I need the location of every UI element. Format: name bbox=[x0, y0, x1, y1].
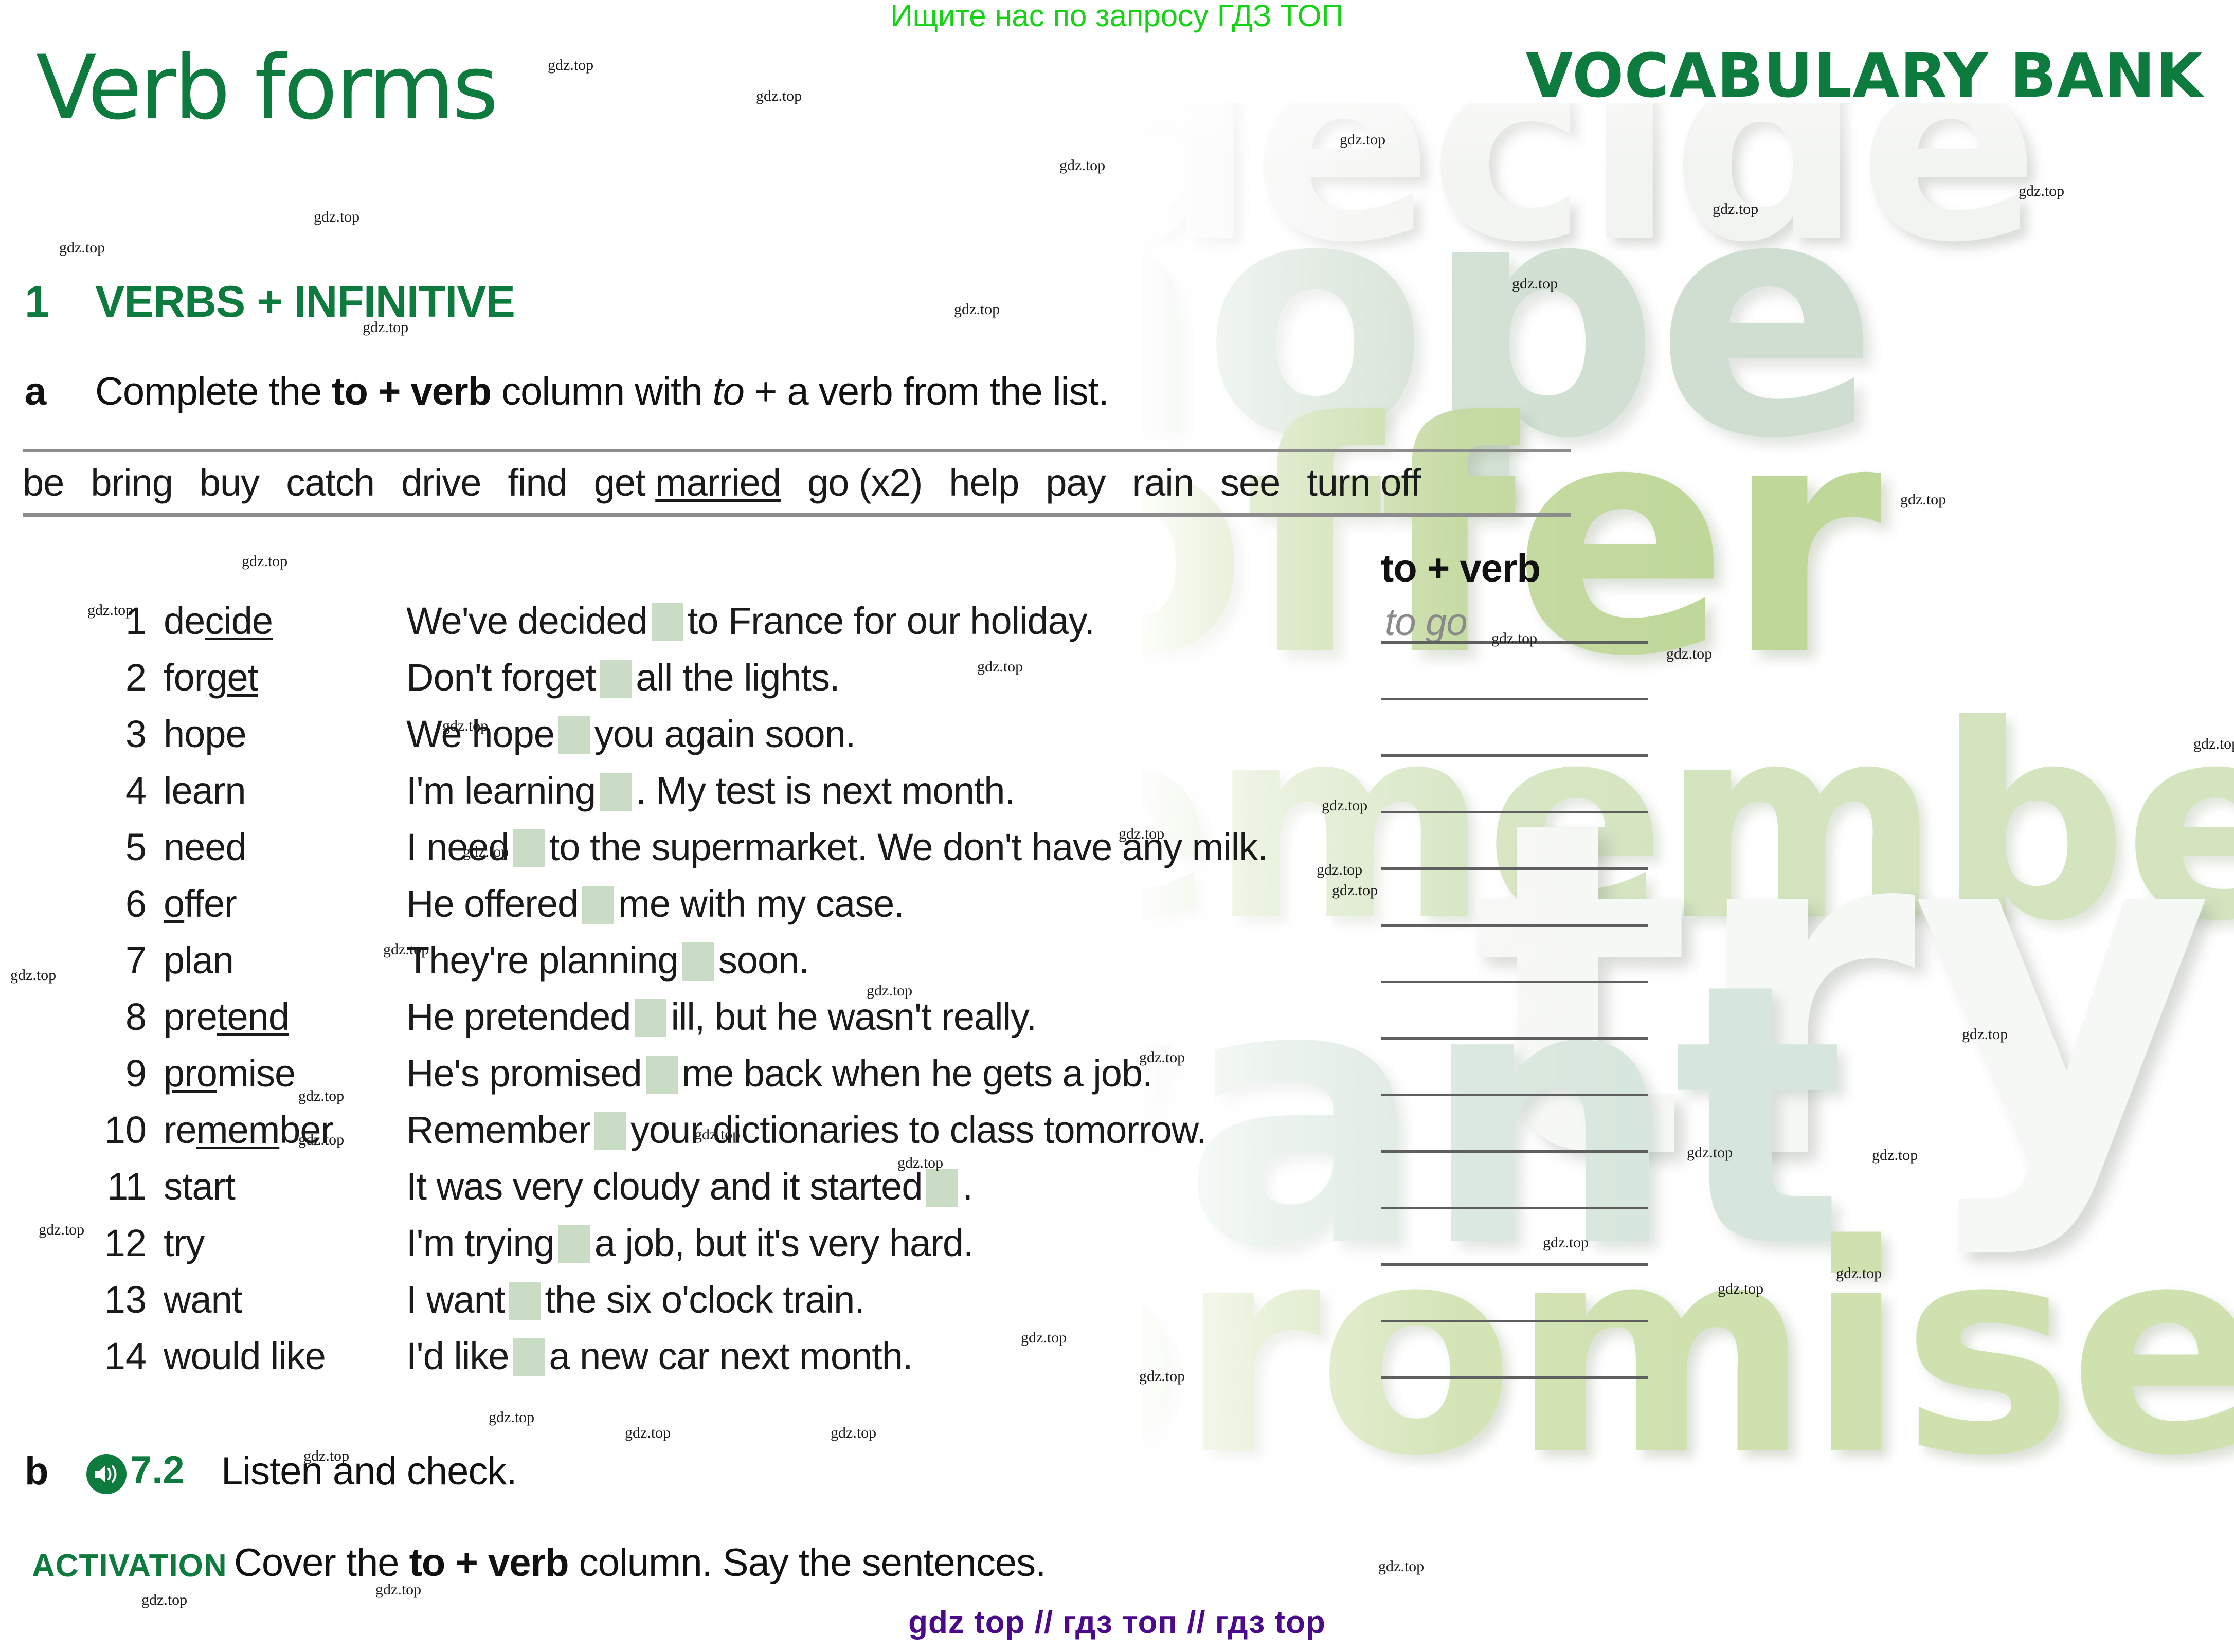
answer-writing-line bbox=[1381, 1207, 1648, 1209]
row-sentence: I'm tryinga job, but it's very hard. bbox=[406, 1221, 974, 1265]
watermark: gdz.top bbox=[1543, 1234, 1589, 1251]
verb-stress-underline: mem bbox=[196, 1109, 279, 1151]
audio-track-number: 7.2 bbox=[130, 1448, 185, 1493]
watermark: gdz.top bbox=[87, 602, 133, 619]
exercise-row: 1decideWe've decidedto France for our ho… bbox=[0, 599, 2234, 656]
answer-row[interactable] bbox=[1381, 1278, 1648, 1334]
activation-instruction: Cover the to + verb column. Say the sent… bbox=[234, 1540, 1046, 1585]
answers-column-header: to + verb bbox=[1381, 546, 1540, 591]
watermark: gdz.top bbox=[1687, 1144, 1733, 1161]
row-number: 11 bbox=[90, 1165, 147, 1208]
watermark: gdz.top bbox=[1322, 797, 1367, 814]
watermark: gdz.top bbox=[1317, 861, 1362, 879]
watermark: gdz.top bbox=[831, 1424, 876, 1442]
wordbank-word: get married bbox=[594, 461, 781, 504]
row-verb: plan bbox=[164, 938, 233, 982]
wordbank-word: catch bbox=[286, 461, 374, 504]
row-number: 10 bbox=[90, 1108, 147, 1152]
task-a-italic-to: to bbox=[713, 370, 744, 413]
watermark: gdz.top bbox=[548, 57, 593, 74]
wordbank-word-underlined: married bbox=[655, 461, 781, 504]
watermark: gdz.top bbox=[314, 208, 359, 226]
watermark: gdz.top bbox=[2193, 735, 2234, 753]
answer-gap[interactable] bbox=[558, 716, 590, 754]
watermark: gdz.top bbox=[867, 982, 912, 1000]
task-a-letter: a bbox=[25, 369, 46, 414]
wordbank-word: bring bbox=[91, 461, 173, 504]
exercise-row: 5needI needto the supermarket. We don't … bbox=[0, 825, 2234, 882]
row-verb: forget bbox=[164, 656, 258, 699]
exercise-row: 13wantI wantthe six o'clock train. bbox=[0, 1278, 2234, 1334]
watermark: gdz.top bbox=[1139, 1368, 1185, 1385]
answer-row[interactable] bbox=[1381, 656, 1648, 712]
answer-row[interactable] bbox=[1381, 882, 1648, 938]
answer-text: to go bbox=[1385, 600, 1467, 644]
promo-banner: Ищите нас по запросу ГДЗ ТОП bbox=[0, 0, 2234, 33]
row-verb: start bbox=[164, 1165, 235, 1208]
verb-stress-underline: o bbox=[164, 882, 184, 925]
watermark: gdz.top bbox=[694, 1126, 740, 1143]
row-number: 5 bbox=[90, 825, 147, 869]
answers-column: to go bbox=[1381, 599, 1648, 1391]
row-number: 14 bbox=[90, 1334, 147, 1378]
section-number: 1 bbox=[25, 277, 49, 328]
watermark: gdz.top bbox=[1491, 630, 1537, 647]
watermark: gdz.top bbox=[1059, 157, 1105, 174]
verb-stress-underline: get bbox=[206, 656, 258, 699]
answer-gap[interactable] bbox=[652, 603, 683, 641]
answer-gap[interactable] bbox=[509, 1282, 541, 1320]
answer-gap[interactable] bbox=[513, 829, 545, 867]
exercise-row: 14would likeI'd likea new car next month… bbox=[0, 1334, 2234, 1391]
answer-row[interactable] bbox=[1381, 1221, 1648, 1278]
answer-writing-line bbox=[1381, 867, 1648, 870]
answer-gap[interactable] bbox=[582, 886, 614, 924]
answer-gap[interactable] bbox=[635, 999, 666, 1037]
exercise-row: 6offerHe offeredme with my case. bbox=[0, 882, 2234, 938]
row-number: 9 bbox=[90, 1051, 147, 1095]
answer-gap[interactable] bbox=[594, 1112, 626, 1150]
row-sentence: It was very cloudy and it started. bbox=[406, 1165, 972, 1208]
answer-row[interactable] bbox=[1381, 995, 1648, 1051]
answer-writing-line bbox=[1381, 1094, 1648, 1096]
watermark: gdz.top bbox=[1021, 1329, 1067, 1347]
watermark: gdz.top bbox=[298, 1131, 344, 1149]
row-verb: want bbox=[164, 1278, 242, 1321]
wordbank-word: go (x2) bbox=[807, 461, 922, 504]
row-sentence: I'm learning. My test is next month. bbox=[406, 769, 1015, 812]
answer-writing-line bbox=[1381, 754, 1648, 757]
activation-part1: Cover the bbox=[234, 1541, 409, 1585]
row-sentence: I'd likea new car next month. bbox=[406, 1334, 913, 1378]
answer-writing-line bbox=[1381, 1150, 1648, 1153]
row-sentence: He pretendedill, but he wasn't really. bbox=[406, 995, 1036, 1039]
watermark: gdz.top bbox=[1139, 1049, 1185, 1066]
row-number: 4 bbox=[90, 769, 147, 812]
section-title: VERBS + INFINITIVE bbox=[95, 277, 515, 328]
answer-gap[interactable] bbox=[646, 1056, 678, 1094]
wordbank-box: bebringbuycatchdrivefindget marriedgo (x… bbox=[23, 449, 1571, 517]
exercise-row: 8pretendHe pretendedill, but he wasn't r… bbox=[0, 995, 2234, 1051]
watermark: gdz.top bbox=[1666, 645, 1712, 663]
row-sentence: He's promisedme back when he gets a job. bbox=[406, 1051, 1152, 1095]
row-verb: need bbox=[164, 825, 246, 869]
wordbank-word: turn off bbox=[1307, 461, 1420, 504]
answer-writing-line bbox=[1381, 924, 1648, 927]
row-number: 6 bbox=[90, 882, 147, 925]
exercise-row: 7planThey're planningsoon. bbox=[0, 938, 2234, 995]
answer-row[interactable] bbox=[1381, 769, 1648, 825]
task-b-letter: b bbox=[25, 1449, 48, 1494]
wordbank-word: help bbox=[949, 461, 1019, 504]
watermark: gdz.top bbox=[59, 239, 105, 257]
answer-writing-line bbox=[1381, 1320, 1648, 1322]
exercise-table: 1decideWe've decidedto France for our ho… bbox=[0, 599, 2234, 1391]
promo-footer: gdz top // гдз топ // гдз top bbox=[0, 1604, 2234, 1641]
row-number: 2 bbox=[90, 656, 147, 699]
wordbank-word: drive bbox=[401, 461, 481, 504]
watermark: gdz.top bbox=[1962, 1026, 2008, 1043]
row-verb: learn bbox=[164, 769, 246, 812]
row-sentence: He offeredme with my case. bbox=[406, 882, 904, 925]
row-number: 8 bbox=[90, 995, 147, 1039]
exercise-row: 4learnI'm learning. My test is next mont… bbox=[0, 769, 2234, 825]
wordbank-word: rain bbox=[1132, 461, 1194, 504]
watermark: gdz.top bbox=[1872, 1147, 1918, 1164]
row-number: 13 bbox=[90, 1278, 147, 1321]
answer-row[interactable] bbox=[1381, 1051, 1648, 1108]
watermark: gdz.top bbox=[977, 658, 1023, 676]
speaker-icon[interactable] bbox=[86, 1454, 127, 1494]
speaker-glyph bbox=[94, 1464, 119, 1484]
watermark: gdz.top bbox=[897, 1154, 943, 1172]
answer-gap[interactable] bbox=[600, 660, 632, 698]
task-a-part2: column with bbox=[491, 370, 713, 413]
vocabulary-bank-title: VOCABULARY BANK bbox=[1526, 40, 2203, 111]
watermark: gdz.top bbox=[375, 1581, 421, 1599]
row-verb: promise bbox=[164, 1051, 295, 1095]
watermark: gdz.top bbox=[954, 301, 1000, 318]
row-sentence: Rememberyour dictionaries to class tomor… bbox=[406, 1108, 1206, 1152]
answer-gap[interactable] bbox=[513, 1338, 545, 1376]
watermark: gdz.top bbox=[756, 87, 802, 105]
watermark: gdz.top bbox=[1900, 491, 1946, 509]
watermark: gdz.top bbox=[242, 553, 287, 570]
task-b-instruction: Listen and check. bbox=[221, 1449, 517, 1494]
activation-part2: column. Say the sentences. bbox=[569, 1541, 1046, 1585]
exercise-row: 3hopeWe hopeyou again soon. bbox=[0, 712, 2234, 769]
row-verb: try bbox=[164, 1221, 204, 1265]
wordbank-list: bebringbuycatchdrivefindget marriedgo (x… bbox=[23, 461, 1571, 504]
activation-label: ACTIVATION bbox=[32, 1548, 227, 1584]
row-number: 12 bbox=[90, 1221, 147, 1265]
answer-gap[interactable] bbox=[926, 1169, 958, 1207]
verb-stress-underline: tend bbox=[217, 995, 289, 1038]
exercise-row: 11startIt was very cloudy and it started… bbox=[0, 1165, 2234, 1221]
watermark: gdz.top bbox=[303, 1447, 349, 1465]
answer-writing-line bbox=[1381, 981, 1648, 983]
activation-bold-toverb: to + verb bbox=[409, 1541, 569, 1585]
watermark: gdz.top bbox=[463, 843, 509, 861]
watermark: gdz.top bbox=[625, 1424, 671, 1442]
answer-row[interactable] bbox=[1381, 1334, 1648, 1391]
answer-row[interactable] bbox=[1381, 938, 1648, 995]
row-verb: pretend bbox=[164, 995, 289, 1039]
answer-gap[interactable] bbox=[600, 773, 632, 811]
watermark: gdz.top bbox=[1340, 131, 1385, 149]
row-verb: hope bbox=[164, 712, 246, 756]
page-title: Verb forms bbox=[36, 36, 496, 139]
watermark: gdz.top bbox=[2019, 183, 2064, 200]
answer-row[interactable] bbox=[1381, 1165, 1648, 1221]
task-a-bold-toverb: to + verb bbox=[332, 370, 491, 413]
exercise-row: 2forgetDon't forgetall the lights. bbox=[0, 656, 2234, 712]
row-sentence: They're planningsoon. bbox=[406, 938, 809, 982]
watermark: gdz.top bbox=[489, 1409, 534, 1426]
answer-writing-line bbox=[1381, 1376, 1648, 1379]
answer-row[interactable] bbox=[1381, 825, 1648, 882]
answer-writing-line bbox=[1381, 1263, 1648, 1266]
row-sentence: Don't forgetall the lights. bbox=[406, 656, 840, 699]
watermark: gdz.top bbox=[1512, 275, 1558, 293]
answer-row[interactable] bbox=[1381, 1108, 1648, 1165]
row-verb: offer bbox=[164, 882, 237, 925]
row-verb: would like bbox=[164, 1334, 326, 1378]
row-sentence: I wantthe six o'clock train. bbox=[406, 1278, 864, 1321]
watermark: gdz.top bbox=[1332, 882, 1378, 899]
watermark: gdz.top bbox=[383, 941, 429, 958]
wordbank-word: buy bbox=[200, 461, 259, 504]
row-verb: decide bbox=[164, 599, 273, 643]
wordbank-word: see bbox=[1220, 461, 1280, 504]
wordbank-word: pay bbox=[1046, 461, 1105, 504]
answer-writing-line bbox=[1381, 698, 1648, 700]
row-number: 3 bbox=[90, 712, 147, 756]
answer-gap[interactable] bbox=[558, 1225, 590, 1263]
watermark: gdz.top bbox=[10, 967, 56, 984]
watermark: gdz.top bbox=[1378, 1558, 1424, 1575]
answer-gap[interactable] bbox=[682, 942, 714, 981]
task-a-part3: + a verb from the list. bbox=[744, 370, 1109, 413]
watermark: gdz.top bbox=[1836, 1265, 1882, 1282]
watermark: gdz.top bbox=[363, 319, 408, 336]
watermark: gdz.top bbox=[298, 1087, 344, 1105]
watermark: gdz.top bbox=[442, 717, 488, 735]
watermark: gdz.top bbox=[1713, 201, 1758, 218]
exercise-row: 12tryI'm tryinga job, but it's very hard… bbox=[0, 1221, 2234, 1278]
wordbank-word: be bbox=[23, 461, 64, 504]
row-sentence: We've decidedto France for our holiday. bbox=[406, 599, 1094, 643]
watermark: gdz.top bbox=[1119, 825, 1164, 843]
watermark: gdz.top bbox=[39, 1221, 84, 1239]
answer-writing-line bbox=[1381, 1037, 1648, 1040]
verb-stress-underline: cide bbox=[205, 600, 273, 642]
watermark: gdz.top bbox=[1718, 1280, 1763, 1298]
row-number: 7 bbox=[90, 938, 147, 982]
task-a-instruction: Complete the to + verb column with to + … bbox=[95, 369, 1109, 414]
verb-stress-underline: pro bbox=[164, 1052, 217, 1095]
answer-row[interactable] bbox=[1381, 712, 1648, 769]
watermark: gdz.top bbox=[141, 1591, 187, 1609]
wordbank-word: find bbox=[508, 461, 567, 504]
answer-writing-line bbox=[1381, 811, 1648, 813]
task-a-part1: Complete the bbox=[95, 370, 332, 413]
